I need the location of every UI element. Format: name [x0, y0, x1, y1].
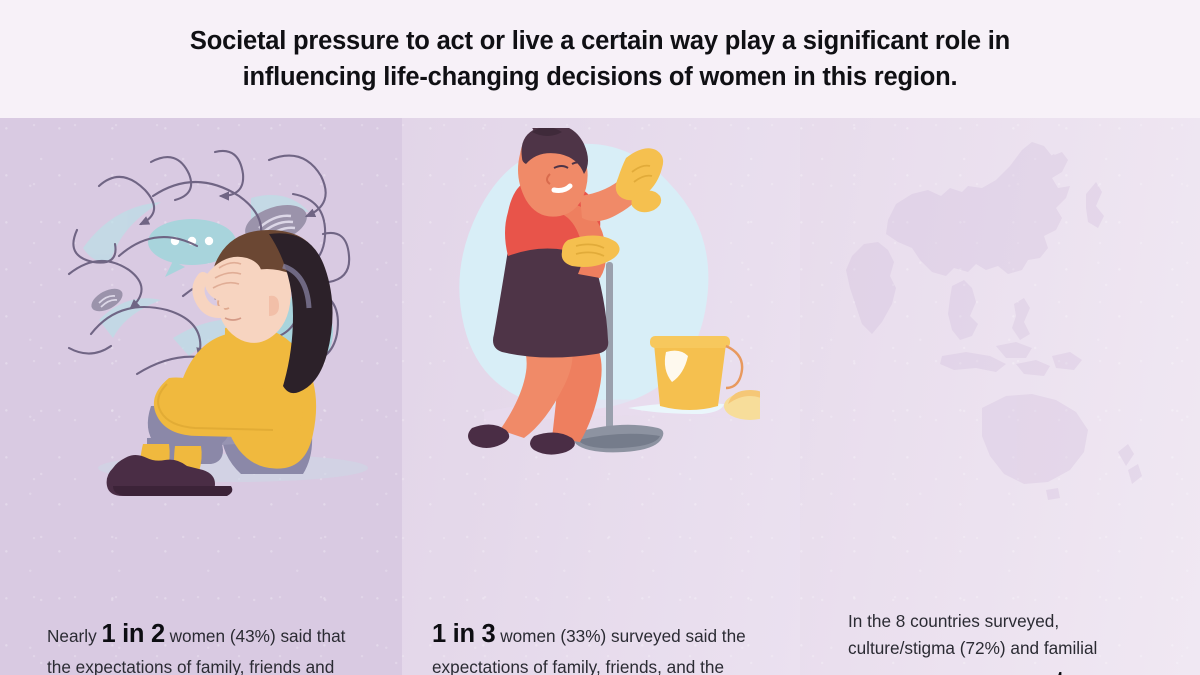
asia-pacific-map-icon	[800, 118, 1200, 528]
caption-1-lead: Nearly	[47, 626, 97, 646]
header-bar: Societal pressure to act or live a certa…	[0, 0, 1200, 118]
page-title: Societal pressure to act or live a certa…	[120, 23, 1080, 95]
caption-1-stat: 1 in 2	[101, 620, 164, 648]
illustration-woman-mopping	[450, 128, 760, 498]
caption-panel-1: Nearly 1 in 2 women (43%) said that the …	[47, 614, 357, 675]
caption-2-stat: 1 in 3	[432, 620, 495, 648]
caption-panel-3: In the 8 countries surveyed, culture/sti…	[848, 608, 1158, 675]
caption-3-before: In the 8 countries surveyed, culture/sti…	[848, 611, 1097, 675]
illustration-woman-head-in-hands	[55, 138, 375, 498]
caption-panel-2: 1 in 3 women (33%) surveyed said the exp…	[432, 614, 772, 675]
infographic-page: Societal pressure to act or live a certa…	[0, 0, 1200, 675]
body-area: Nearly 1 in 2 women (43%) said that the …	[0, 118, 1200, 675]
